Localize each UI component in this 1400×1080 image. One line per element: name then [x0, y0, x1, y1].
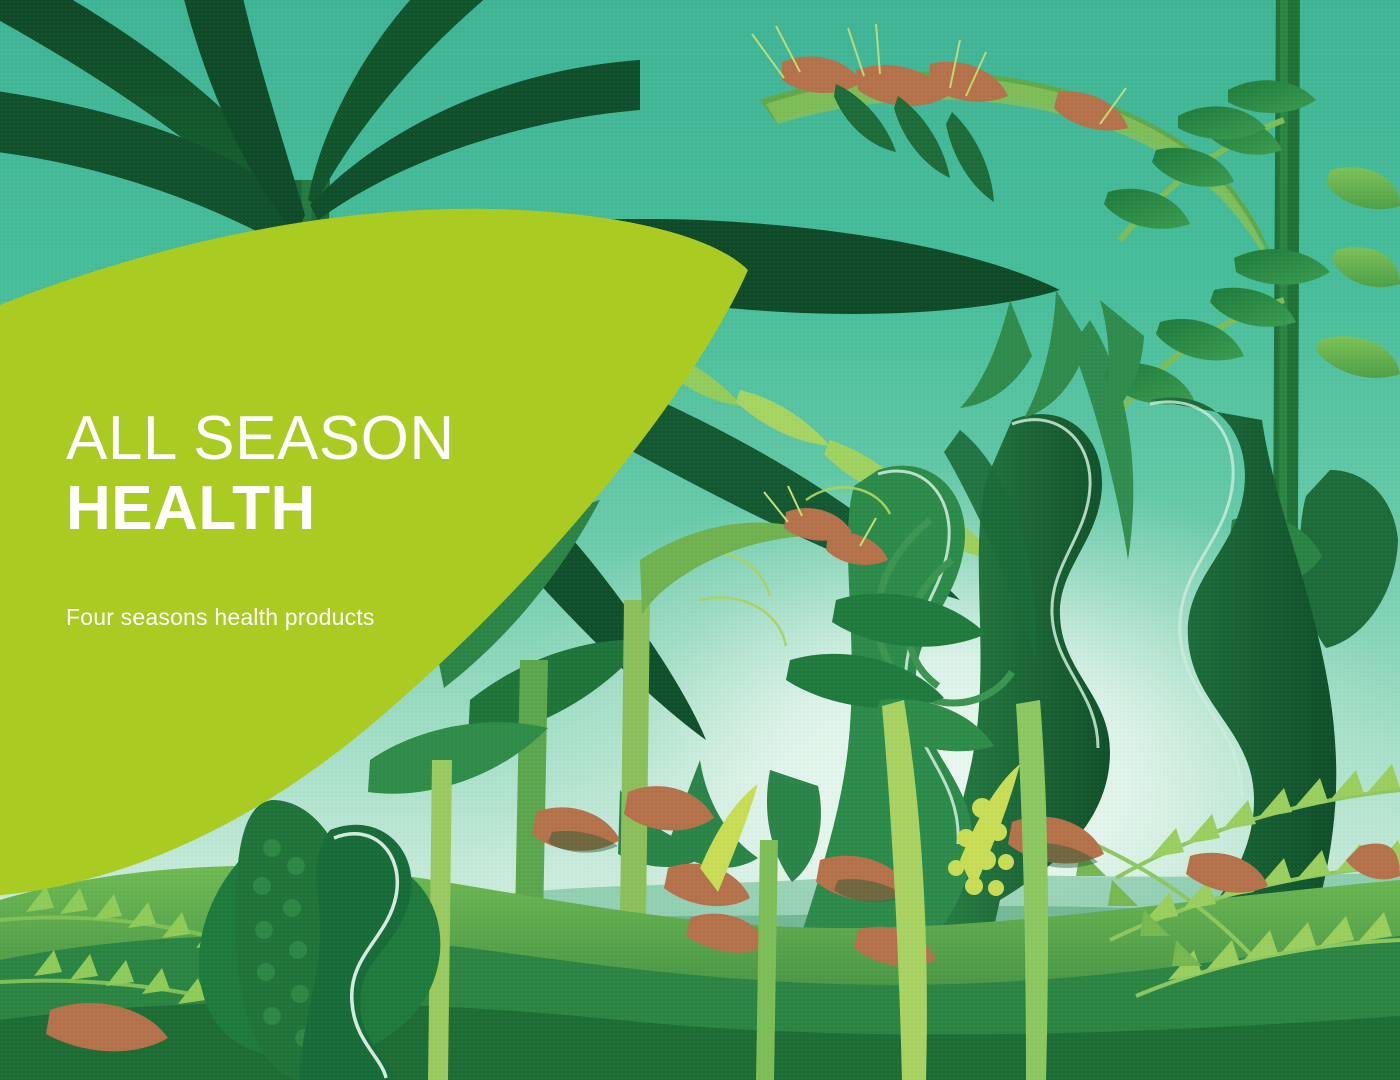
title-line-1: ALL SEASON: [66, 404, 706, 474]
poster-canvas: ALL SEASON HEALTH Four seasons health pr…: [0, 0, 1400, 1080]
brand-text-block: ALL SEASON HEALTH Four seasons health pr…: [66, 404, 706, 632]
subtitle: Four seasons health products: [66, 602, 706, 632]
title-line-2: HEALTH: [66, 474, 706, 544]
